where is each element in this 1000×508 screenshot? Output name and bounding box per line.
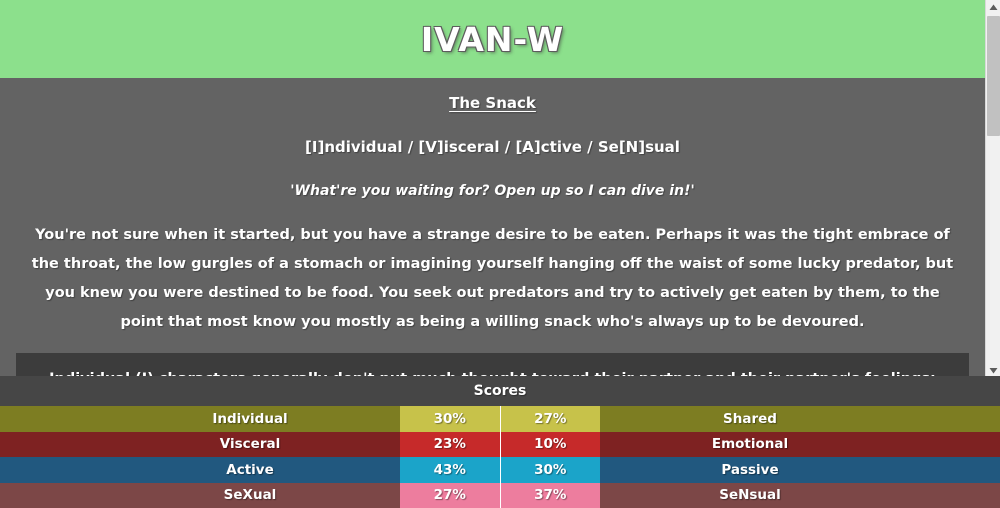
vertical-scrollbar[interactable] bbox=[985, 0, 1000, 378]
triangle-up-icon bbox=[989, 4, 998, 11]
score-bar-pair: 27%37% bbox=[400, 483, 600, 508]
trait-description-block: Individual (I) characters generally don'… bbox=[16, 353, 969, 378]
article-quote: 'What're you waiting for? Open up so I c… bbox=[16, 156, 969, 199]
scores-section: Scores IndividualShared30%27%VisceralEmo… bbox=[0, 376, 1000, 508]
score-left-value: 27% bbox=[400, 483, 501, 508]
score-right-value: 27% bbox=[501, 406, 601, 432]
score-bar-pair: 43%30% bbox=[400, 457, 600, 483]
score-row: VisceralEmotional23%10% bbox=[0, 432, 1000, 458]
scores-rows: IndividualShared30%27%VisceralEmotional2… bbox=[0, 406, 1000, 508]
score-row: SeXualSeNsual27%37% bbox=[0, 483, 1000, 508]
article-blurb: You're not sure when it started, but you… bbox=[16, 199, 969, 337]
profile-page: IVAN-W The Snack [I]ndividual / [V]iscer… bbox=[0, 0, 1000, 508]
scroll-up-button[interactable] bbox=[986, 0, 1000, 15]
triangle-down-icon bbox=[989, 367, 998, 374]
score-bar-pair: 23%10% bbox=[400, 432, 600, 458]
score-left-value: 30% bbox=[400, 406, 501, 432]
article-typeline: [I]ndividual / [V]isceral / [A]ctive / S… bbox=[16, 112, 969, 156]
score-right-value: 10% bbox=[501, 432, 601, 458]
article-content: The Snack [I]ndividual / [V]isceral / [A… bbox=[0, 78, 985, 378]
score-bar-pair: 30%27% bbox=[400, 406, 600, 432]
page-title: IVAN-W bbox=[421, 20, 564, 59]
score-row: ActivePassive43%30% bbox=[0, 457, 1000, 483]
scrollbar-thumb[interactable] bbox=[987, 16, 1000, 136]
article-scroll-region[interactable]: The Snack [I]ndividual / [V]isceral / [A… bbox=[0, 78, 985, 378]
scores-title: Scores bbox=[0, 376, 1000, 406]
score-left-value: 43% bbox=[400, 457, 501, 483]
page-banner: IVAN-W bbox=[0, 0, 985, 78]
score-left-value: 23% bbox=[400, 432, 501, 458]
score-row: IndividualShared30%27% bbox=[0, 406, 1000, 432]
score-right-value: 37% bbox=[501, 483, 601, 508]
article-subheading: The Snack bbox=[16, 78, 969, 112]
score-right-value: 30% bbox=[501, 457, 601, 483]
